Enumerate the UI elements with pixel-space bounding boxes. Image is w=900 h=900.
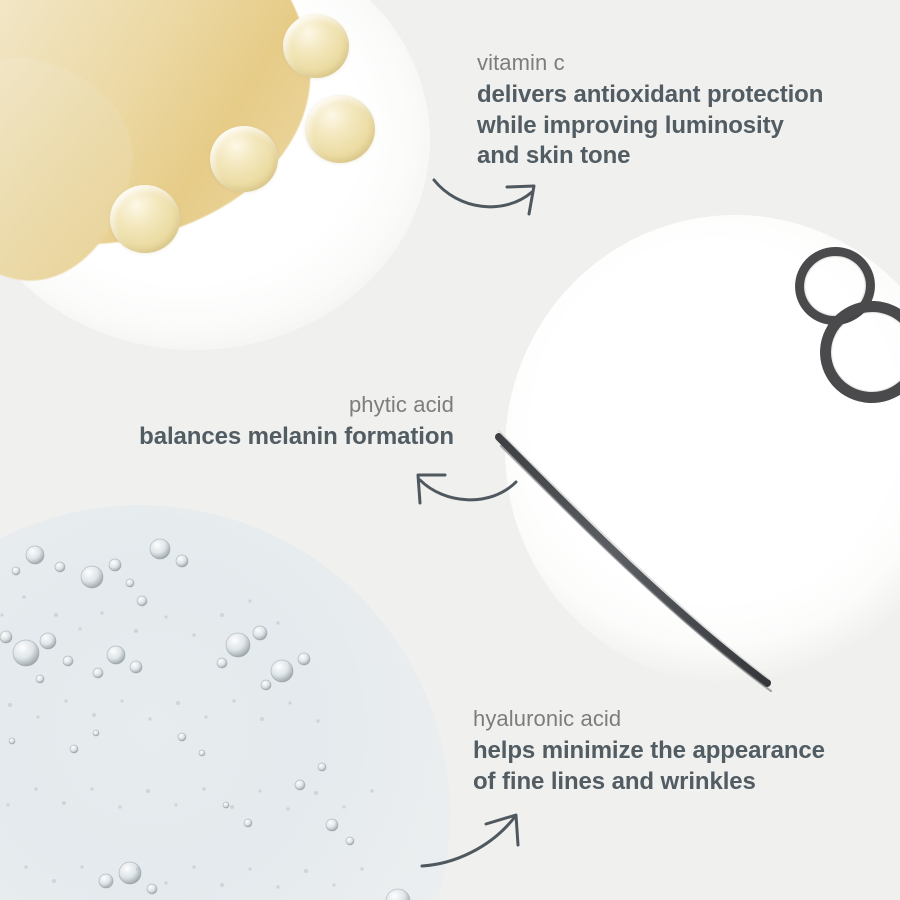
ingredient-name-hyaluronic-acid: hyaluronic acid (473, 706, 825, 732)
headline-line: while improving luminosity (477, 111, 823, 142)
arrow-to-vitamin-c (428, 172, 553, 232)
headline-line: and skin tone (477, 141, 823, 172)
arrow-to-hyaluronic-acid (418, 800, 538, 880)
gel-bubbles (0, 505, 450, 900)
headline-line: of fine lines and wrinkles (473, 767, 825, 798)
small-metal-ring (788, 240, 882, 333)
ingredient-name-vitamin-c: vitamin c (477, 50, 823, 76)
gel-circle-backdrop (0, 505, 450, 900)
metal-rings-image (505, 215, 900, 685)
callout-vitamin-c: vitamin c delivers antioxidant protectio… (477, 50, 823, 172)
oil-droplet (110, 185, 180, 253)
callout-hyaluronic-acid: hyaluronic acid helps minimize the appea… (473, 706, 825, 797)
golden-oil-smear-shape (0, 0, 326, 258)
oil-droplet (210, 126, 278, 192)
product-ingredient-infographic: vitamin c delivers antioxidant protectio… (0, 0, 900, 900)
oil-smear-image (0, 0, 430, 350)
large-ring-arc (505, 215, 900, 685)
ingredient-benefit-hyaluronic-acid: helps minimize the appearance of fine li… (473, 736, 825, 797)
oil-droplet (283, 14, 349, 78)
ingredient-benefit-vitamin-c: delivers antioxidant protection while im… (477, 80, 823, 172)
headline-line: helps minimize the appearance (473, 736, 825, 767)
headline-line: balances melanin formation (92, 422, 454, 453)
ingredient-benefit-phytic-acid: balances melanin formation (92, 422, 454, 453)
arrow-to-phytic-acid (398, 462, 523, 522)
oil-droplet (305, 95, 375, 163)
large-metal-ring (813, 294, 900, 409)
callout-phytic-acid: phytic acid balances melanin formation (92, 392, 454, 453)
bubble-gel-image (0, 505, 450, 900)
white-circle-backdrop (505, 215, 900, 685)
golden-oil-smear-tail (0, 44, 148, 295)
ingredient-name-phytic-acid: phytic acid (92, 392, 454, 418)
white-pool-backdrop (0, 0, 430, 350)
headline-line: delivers antioxidant protection (477, 80, 823, 111)
